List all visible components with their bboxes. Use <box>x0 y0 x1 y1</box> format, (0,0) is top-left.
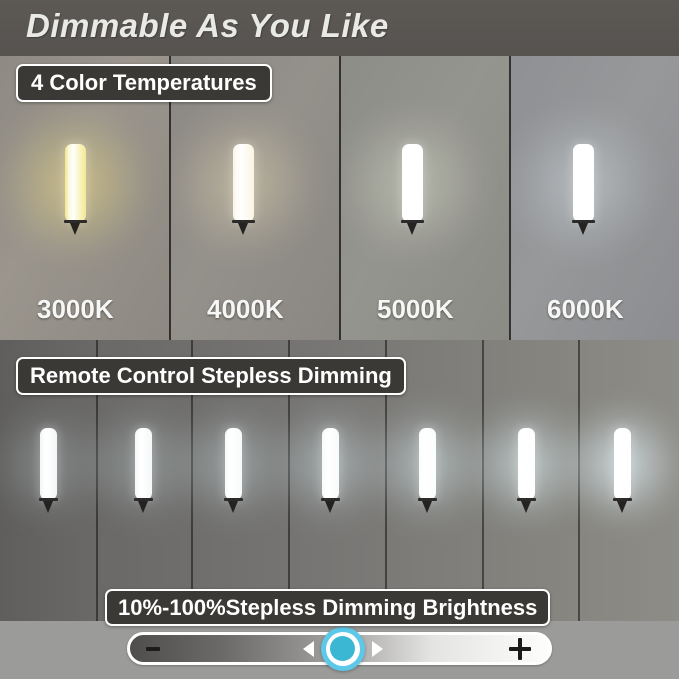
lamp-cone <box>407 223 417 235</box>
minus-icon[interactable] <box>146 647 160 651</box>
panel-divider <box>509 56 511 340</box>
color-temperature-label: 3000K <box>37 294 114 325</box>
lamp-cone <box>325 501 335 513</box>
panel-divider <box>339 56 341 340</box>
lamp-tube <box>40 428 57 500</box>
lamp-tube <box>573 144 594 222</box>
lamp-tube <box>65 144 86 222</box>
lamp-cone <box>43 501 53 513</box>
lamp-cone <box>521 501 531 513</box>
lamp-cone <box>422 501 432 513</box>
plus-icon[interactable] <box>509 638 531 660</box>
dimmer-slider-track[interactable] <box>127 632 552 665</box>
arrow-left-icon[interactable] <box>303 641 314 657</box>
lamp-tube <box>419 428 436 500</box>
dimmer-slider-strip <box>0 621 679 679</box>
lamp-cone <box>578 223 588 235</box>
color-temperature-label: 6000K <box>547 294 624 325</box>
dimming-panel-divider <box>482 340 484 621</box>
lamp-cone <box>228 501 238 513</box>
lamp-tube <box>135 428 152 500</box>
lamp-cone <box>138 501 148 513</box>
callout-color-temperatures-label: 4 Color Temperatures <box>31 70 257 96</box>
lamp-tube <box>225 428 242 500</box>
product-feature-poster: Dimmable As You Like 3000K4000K5000K6000… <box>0 0 679 679</box>
lamp-cone <box>70 223 80 235</box>
color-temperature-label: 4000K <box>207 294 284 325</box>
callout-brightness-range-label: 10%-100%Stepless Dimming Brightness <box>118 595 537 621</box>
lamp-tube <box>233 144 254 222</box>
callout-remote-control: Remote Control Stepless Dimming <box>16 357 406 395</box>
callout-brightness-range: 10%-100%Stepless Dimming Brightness <box>105 589 550 626</box>
lamp-tube <box>322 428 339 500</box>
lamp-cone <box>617 501 627 513</box>
dimming-panel-divider <box>578 340 580 621</box>
color-temperature-label: 5000K <box>377 294 454 325</box>
poster-header: Dimmable As You Like <box>0 0 679 56</box>
lamp-tube <box>518 428 535 500</box>
slider-handle-ring <box>326 632 360 666</box>
lamp-tube <box>614 428 631 500</box>
arrow-right-icon[interactable] <box>372 641 383 657</box>
lamp-cone <box>238 223 248 235</box>
callout-remote-control-label: Remote Control Stepless Dimming <box>30 363 392 389</box>
dimmer-slider-handle[interactable] <box>321 627 365 671</box>
slider-handle-core <box>330 636 355 661</box>
callout-color-temperatures: 4 Color Temperatures <box>16 64 272 102</box>
lamp-tube <box>402 144 423 222</box>
page-title: Dimmable As You Like <box>26 7 389 45</box>
